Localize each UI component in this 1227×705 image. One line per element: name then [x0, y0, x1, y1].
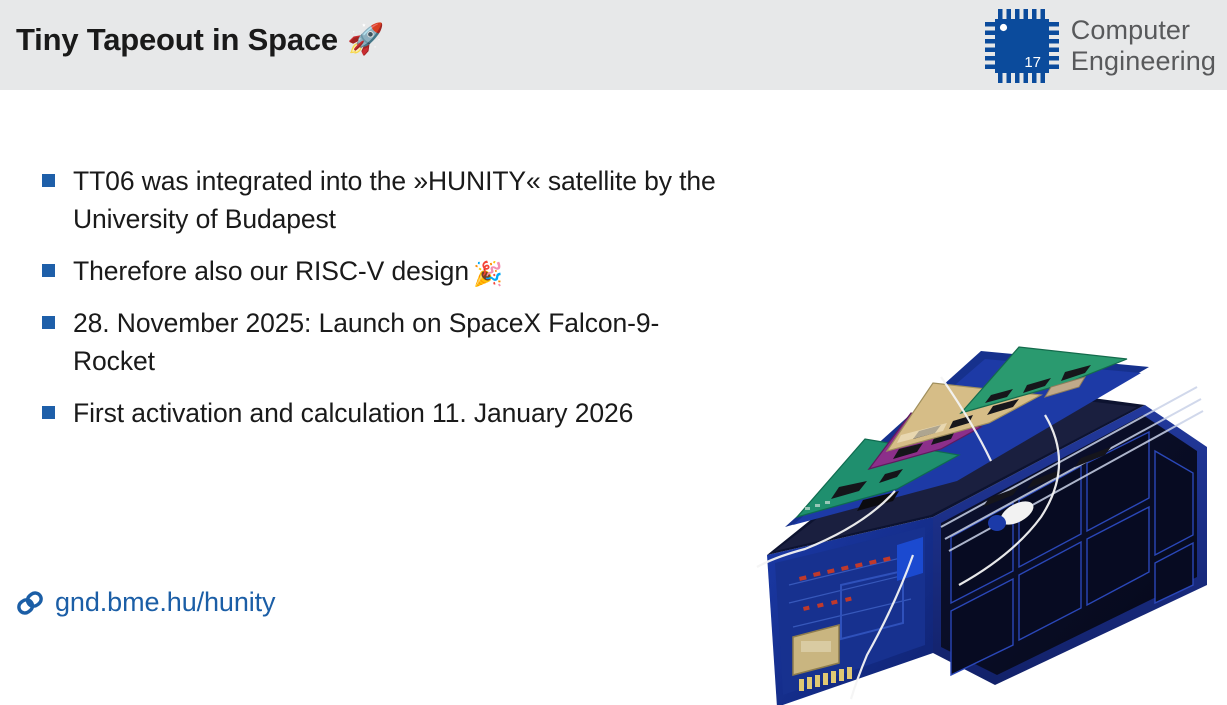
list-item-label: 28. November 2025: Launch on SpaceX Falc…	[73, 304, 732, 380]
bullet-square-icon	[42, 264, 55, 277]
bullet-square-icon	[42, 406, 55, 419]
page-title-text: Tiny Tapeout in Space	[16, 22, 338, 58]
brand-line-2: Engineering	[1071, 46, 1216, 77]
footer-link[interactable]: gnd.bme.hu/hunity	[16, 587, 275, 618]
list-item-label: Therefore also our RISC-V design🎉	[73, 252, 503, 290]
list-item-label: TT06 was integrated into the »HUNITY« sa…	[73, 162, 732, 238]
list-item-label: First activation and calculation 11. Jan…	[73, 394, 637, 432]
link-chain-icon	[16, 589, 44, 617]
list-item: 28. November 2025: Launch on SpaceX Falc…	[42, 304, 732, 380]
bullet-square-icon	[42, 316, 55, 329]
footer-url-label: gnd.bme.hu/hunity	[55, 587, 275, 618]
page-title: Tiny Tapeout in Space 🚀	[16, 22, 384, 58]
party-popper-icon: 🎉	[473, 261, 503, 288]
brand-logo-text: Computer Engineering	[1071, 15, 1216, 78]
rocket-icon: 🚀	[347, 25, 384, 55]
bullet-list: TT06 was integrated into the »HUNITY« sa…	[42, 162, 732, 446]
bullet-square-icon	[42, 174, 55, 187]
slide-body: TT06 was integrated into the »HUNITY« sa…	[0, 90, 1227, 636]
chip-logo-icon: 17	[984, 8, 1060, 84]
list-item: First activation and calculation 11. Jan…	[42, 394, 732, 432]
list-item: Therefore also our RISC-V design🎉	[42, 252, 732, 290]
chip-number-label: 17	[1024, 54, 1041, 71]
list-item: TT06 was integrated into the »HUNITY« sa…	[42, 162, 732, 238]
brand-line-1: Computer	[1071, 15, 1216, 46]
brand-logo: 17 Computer Engineering	[984, 6, 1216, 86]
hunity-cubesat-photo	[745, 255, 1225, 705]
